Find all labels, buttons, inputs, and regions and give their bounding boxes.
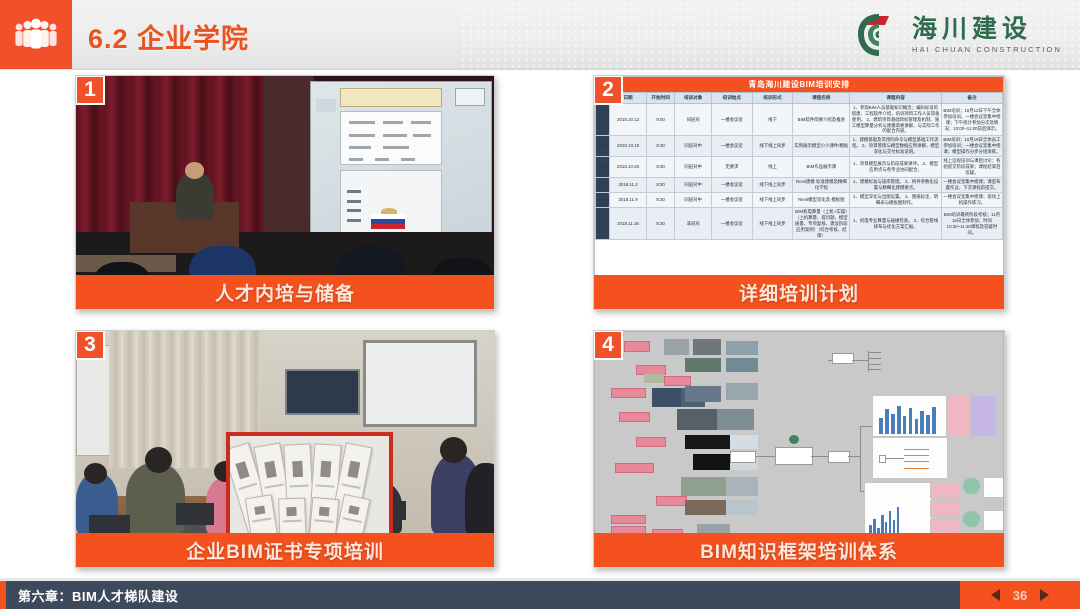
table-cell-content: 1、项目模型展示与阶段成果讲评。 2、模型应用点与各专业协同配合。	[850, 157, 942, 178]
table-cell-idx: 1	[596, 103, 610, 136]
table-cell-course: Revit建模 标准建模及精细化学程	[793, 178, 850, 193]
people-group-icon	[0, 0, 72, 69]
table-cell-time: 8:30	[646, 192, 674, 207]
table-cell-form: 线下线上同步	[752, 207, 793, 240]
table-cell-idx: 4	[596, 178, 610, 193]
table-cell-idx: 5	[596, 192, 610, 207]
table-cell-target: 同层对中	[675, 136, 712, 157]
table-cell-target: 非同对	[675, 207, 712, 240]
table-header-cell: 培训形式	[752, 93, 793, 104]
table-cell-content: 1、模型深化与出图设置。 2、图纸标注、明细表与模板图制作。	[850, 192, 942, 207]
table-cell-place: 一楼会议室	[711, 136, 752, 157]
panel-3[interactable]: 3 企业BIM证书专项培训	[75, 330, 495, 568]
table-cell-form: 线下线上同步	[752, 136, 793, 157]
table-cell-date: 2018.11.9	[610, 192, 647, 207]
table-cell-place: 无要求	[711, 157, 752, 178]
triangle-left-icon[interactable]	[991, 589, 1000, 601]
table-cell-form: 线下线上同步	[752, 192, 793, 207]
company-logo: 海川建设 HAI CHUAN CONSTRUCTION	[855, 8, 1062, 62]
table-cell-date: 2018.10.12	[610, 103, 647, 136]
panel-1[interactable]: 1 人才内培与储备	[75, 75, 495, 310]
table-title: 青岛海川建设BIM培训安排	[595, 77, 1003, 92]
table-row: 12018.10.129:00同层对一楼会议室线下BIM软件简要介绍及推进1、参…	[596, 103, 1003, 136]
table-cell-date: 2018.10.19	[610, 136, 647, 157]
table-cell-place: 一楼会议室	[711, 192, 752, 207]
table-cell-course: Revit模型深化及 模板图	[793, 192, 850, 207]
panel-number-badge: 2	[593, 75, 623, 105]
table-cell-time: 8:30	[646, 207, 674, 240]
table-cell-course: BIM作品展示课	[793, 157, 850, 178]
training-plan-table-image: 青岛海川建设BIM培训安排 序号日期开始时间培训对象培训地点培训形式课程名称课程…	[593, 75, 1005, 310]
pager[interactable]: 36	[960, 581, 1080, 609]
table-row: 62018.11.168:30非同对一楼会议室线下线上同步BIM机电算量（上机+…	[596, 207, 1003, 240]
page-title: 6.2 企业学院	[88, 17, 249, 56]
panel-3-caption: 企业BIM证书专项培训	[76, 533, 494, 567]
panel-number-badge: 3	[75, 330, 105, 360]
table-cell-idx: 3	[596, 157, 610, 178]
table-cell-content: 1、机电专业算量与碰撞检查。 2、综合管线排布与优化方案汇报。	[850, 207, 942, 240]
table-cell-idx: 6	[596, 207, 610, 240]
table-cell-notes: 一楼会议室集中授课；现场上机操作练习。	[941, 192, 1002, 207]
table-cell-target: 同层对中	[675, 178, 712, 193]
table-cell-course: BIM软件简要介绍及推进	[793, 103, 850, 136]
panel-number-badge: 4	[593, 330, 623, 360]
table-cell-notes: 一楼会议室集中授课；课后布置作业，下次课程前提交。	[941, 178, 1002, 193]
table-cell-target: 同层对	[675, 103, 712, 136]
table-header-cell: 培训对象	[675, 93, 712, 104]
table-cell-time: 8:30	[646, 157, 674, 178]
table-cell-notes: BIM培训；10月12日下午全体参加培训。一楼会议室集中授课；下午统计参加分次及…	[941, 103, 1002, 136]
table-cell-content: 1、建模标准与族库管理。 2、构件参数化设置与精细化建模要点。	[850, 178, 942, 193]
table-row: 52018.11.98:30同层对中一楼会议室线下线上同步Revit模型深化及 …	[596, 192, 1003, 207]
table-cell-date: 2018.11.16	[610, 207, 647, 240]
table-row: 32018.10.268:30同层对中无要求线上BIM作品展示课1、项目模型展示…	[596, 157, 1003, 178]
table-header-cell: 课程名称	[793, 93, 850, 104]
footer-accent-bar	[0, 581, 6, 609]
panel-2[interactable]: 青岛海川建设BIM培训安排 序号日期开始时间培训对象培训地点培训形式课程名称课程…	[593, 75, 1005, 310]
table-cell-form: 线下	[752, 103, 793, 136]
logo-text-cn: 海川建设	[912, 16, 1062, 42]
table-cell-form: 线上	[752, 157, 793, 178]
triangle-right-icon[interactable]	[1040, 589, 1049, 601]
table-cell-content: 1、参观BIM人员基础知识概念；编码标准的搭建、工程软件介绍，培训项目工作人员常…	[850, 103, 942, 136]
slide: 6.2 企业学院 海川建设 HAI CHUAN CONSTRUCTION	[0, 0, 1080, 609]
table-cell-place: 一楼会议室	[711, 178, 752, 193]
logo-text-en: HAI CHUAN CONSTRUCTION	[912, 45, 1062, 54]
table-cell-course: BIM机电算量（上机+实操）（上机算量、提问题、模型质量、专项复核、建设阶段应用…	[793, 207, 850, 240]
panel-1-caption: 人才内培与储备	[76, 275, 494, 309]
photo-training-room: 1 人才内培与储备	[75, 75, 495, 310]
table-cell-target: 同层对中	[675, 157, 712, 178]
table-row: 42018.11.28:30同层对中一楼会议室线下线上同步Revit建模 标准建…	[596, 178, 1003, 193]
table-cell-target: 同层对中	[675, 192, 712, 207]
table-row: 22018.10.198:30同层对中一楼会议室线下线上同步实例展示模型小小课件…	[596, 136, 1003, 157]
table-header-cell: 培训地点	[711, 93, 752, 104]
table-cell-time: 9:00	[646, 103, 674, 136]
table-header-cell: 开始时间	[646, 93, 674, 104]
panel-4-caption: BIM知识框架培训体系	[594, 533, 1004, 567]
table-cell-place: 一楼会议室	[711, 207, 752, 240]
table-cell-notes: BIM培训；10月19日全体员工参加培训；一楼会议室集中授课；模型操作分步分组演…	[941, 136, 1002, 157]
table-header-cell: 备注	[941, 93, 1002, 104]
page-number: 36	[1013, 588, 1027, 603]
table-cell-time: 8:30	[646, 178, 674, 193]
chapter-label: 第六章：BIM人才梯队建设	[18, 581, 178, 609]
panel-number-badge: 1	[75, 75, 105, 105]
panel-4[interactable]: 4 BIM知识框架培训体系	[593, 330, 1005, 568]
table-header-cell: 课程内容	[850, 93, 942, 104]
slide-header: 6.2 企业学院 海川建设 HAI CHUAN CONSTRUCTION	[0, 0, 1080, 70]
table-cell-notes: BIM培训最终阶段考核；11月16日全体参加；时间10:30~11:30课程及答…	[941, 207, 1002, 240]
logo-mark-icon	[855, 10, 903, 60]
table-cell-content: 1、建模基础及常用的命令与模型基础工作流程。 2、项目管理与模型数据应用讲解，模…	[850, 136, 942, 157]
header-divider	[72, 68, 1080, 70]
table-cell-form: 线下线上同步	[752, 178, 793, 193]
bim-schedule-table: 序号日期开始时间培训对象培训地点培训形式课程名称课程内容备注 12018.10.…	[595, 92, 1003, 240]
bim-knowledge-mindmap-image: 4 BIM知识框架培训体系	[593, 330, 1005, 568]
table-cell-place: 一楼会议室	[711, 103, 752, 136]
table-cell-date: 2018.11.2	[610, 178, 647, 193]
slide-footer: 第六章：BIM人才梯队建设 36	[0, 581, 1080, 609]
panel-2-caption: 详细培训计划	[594, 275, 1004, 309]
table-cell-date: 2018.10.26	[610, 157, 647, 178]
table-cell-idx: 2	[596, 136, 610, 157]
photo-meeting-room: 3 企业BIM证书专项培训	[75, 330, 495, 568]
table-cell-time: 8:30	[646, 136, 674, 157]
table-cell-course: 实例展示模型小小课件/模板	[793, 136, 850, 157]
table-cell-notes: 线上远程培训与课后讨论；各组提交阶段成果；课程结束后答疑。	[941, 157, 1002, 178]
